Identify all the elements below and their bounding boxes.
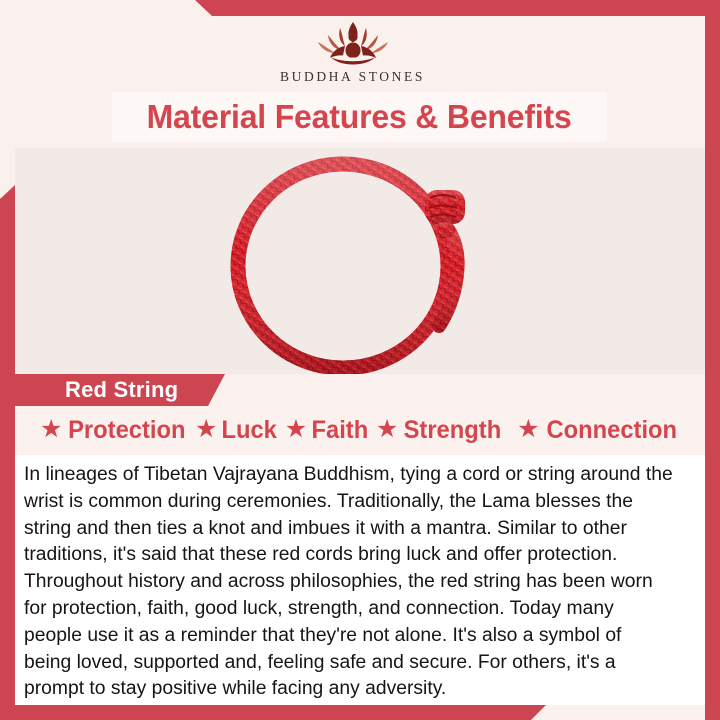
star-icon: ★ (195, 417, 217, 442)
product-label-banner: Red String (15, 374, 225, 406)
benefit-item-luck: ★ Luck (195, 416, 279, 445)
product-label: Red String (15, 377, 178, 403)
benefit-item-strength: ★ Strength (376, 416, 504, 445)
frame-top-bar (0, 0, 720, 16)
star-icon: ★ (40, 417, 62, 442)
frame-right-bar (705, 16, 720, 720)
description-block: In lineages of Tibetan Vajrayana Buddhis… (15, 455, 705, 705)
title-band: Material Features & Benefits (112, 92, 607, 142)
benefit-label: Luck (222, 416, 277, 445)
star-icon: ★ (517, 417, 539, 442)
benefit-item-faith: ★ Faith (285, 416, 370, 445)
frame-bottom-bar (0, 705, 720, 720)
brand-name: BUDDHA STONES (280, 69, 425, 85)
star-icon: ★ (376, 417, 398, 442)
frame-left-bar (0, 185, 15, 705)
benefit-item-protection: ★ Protection (40, 416, 189, 445)
benefit-item-connection: ★ Connection (517, 416, 680, 445)
brand-header: BUDDHA STONES (0, 16, 705, 92)
star-icon: ★ (285, 417, 307, 442)
benefit-label: Faith (312, 416, 369, 445)
benefits-row: ★ Protection ★ Luck ★ Faith ★ Strength ★… (15, 406, 705, 455)
lotus-meditation-icon (307, 18, 399, 68)
red-string-bracelet-image (220, 154, 500, 374)
product-image-panel (15, 148, 705, 374)
benefit-label: Connection (546, 416, 677, 445)
infographic-page: BUDDHA STONES Material Features & Benefi… (0, 0, 720, 720)
description-text: In lineages of Tibetan Vajrayana Buddhis… (24, 461, 673, 702)
page-title: Material Features & Benefits (147, 98, 572, 136)
benefit-label: Protection (68, 416, 185, 445)
benefit-label: Strength (404, 416, 502, 445)
